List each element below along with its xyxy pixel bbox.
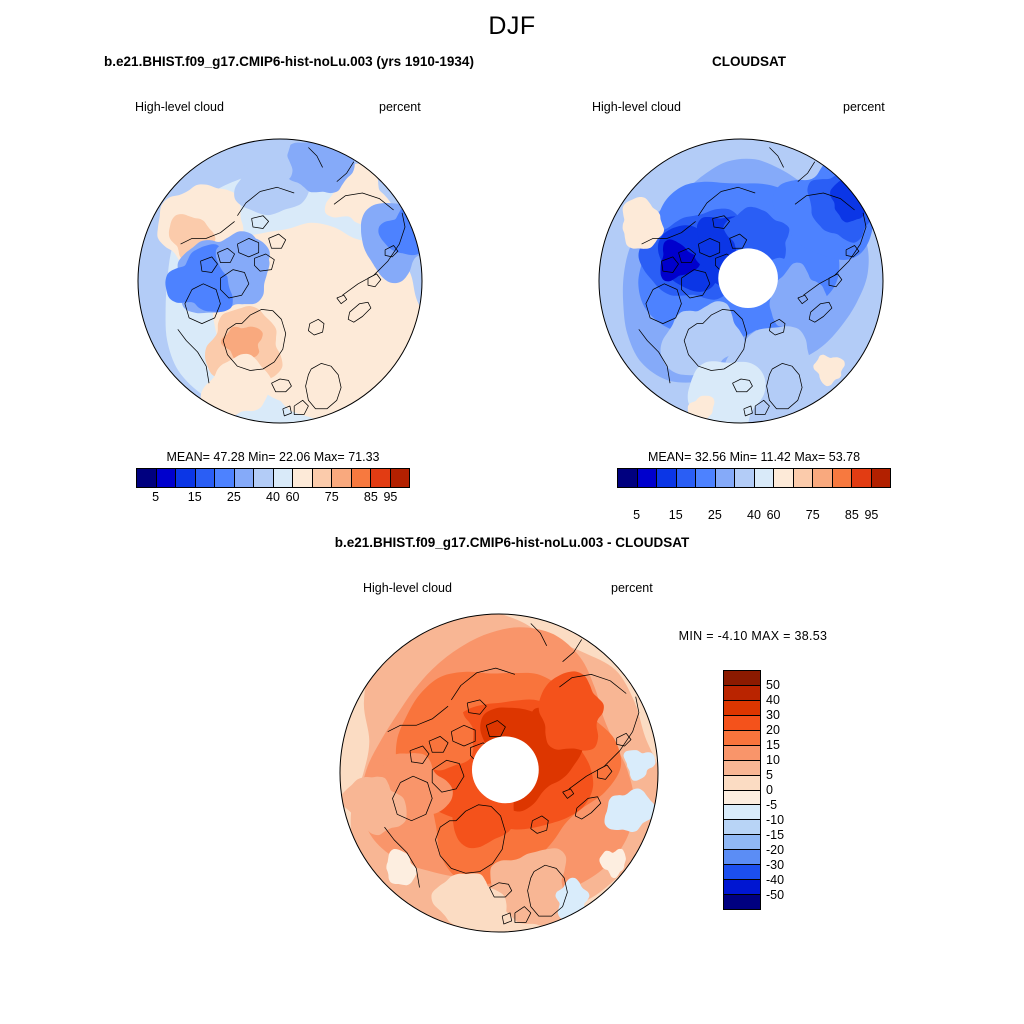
colorbar-tick-label: 60 <box>767 508 781 522</box>
colorbar-segment <box>755 469 775 487</box>
map-obs <box>598 136 884 426</box>
colorbar-tick-label: -30 <box>766 858 784 872</box>
colorbar-tick-label: -50 <box>766 888 784 902</box>
colorbar-tick-label: -5 <box>766 798 777 812</box>
colorbar-segment <box>696 469 716 487</box>
colorbar-tick-label: 75 <box>325 490 339 504</box>
colorbar-segment <box>293 469 313 487</box>
diff-units-label: percent <box>611 581 731 595</box>
colorbar-tick-label: 95 <box>864 508 878 522</box>
colorbar-tick-label: -20 <box>766 843 784 857</box>
colorbar-segment <box>332 469 352 487</box>
colorbar-tick-label: 50 <box>766 678 780 692</box>
panel-title-model: b.e21.BHIST.f09_g17.CMIP6-hist-noLu.003 … <box>0 54 578 69</box>
colorbar-difference[interactable] <box>723 670 761 910</box>
colorbar-tick-label: 30 <box>766 708 780 722</box>
model-units-label: percent <box>379 100 499 114</box>
colorbar-segment <box>352 469 372 487</box>
colorbar-tick-label: 25 <box>227 490 241 504</box>
panel-title-difference: b.e21.BHIST.f09_g17.CMIP6-hist-noLu.003 … <box>0 535 1024 550</box>
colorbar-tick-label: 0 <box>766 783 773 797</box>
colorbar-segment <box>724 865 760 880</box>
colorbar-segment <box>724 835 760 850</box>
colorbar-segment <box>724 850 760 865</box>
obs-units-label: percent <box>843 100 963 114</box>
colorbar-segment <box>254 469 274 487</box>
colorbar-model-ticks: 515254060758595 <box>136 488 410 506</box>
colorbar-tick-label: 95 <box>383 490 397 504</box>
colorbar-obs-ticks: 515254060758595 <box>617 506 891 524</box>
colorbar-segment <box>313 469 333 487</box>
colorbar-segment <box>794 469 814 487</box>
colorbar-segment <box>391 469 410 487</box>
colorbar-segment <box>852 469 872 487</box>
colorbar-segment <box>724 895 760 909</box>
colorbar-segment <box>716 469 736 487</box>
colorbar-tick-label: 15 <box>188 490 202 504</box>
diff-variable-label: High-level cloud <box>363 581 563 595</box>
colorbar-segment <box>833 469 853 487</box>
colorbar-segment <box>724 731 760 746</box>
colorbar-segment <box>618 469 638 487</box>
colorbar-segment <box>235 469 255 487</box>
colorbar-tick-label: 85 <box>364 490 378 504</box>
colorbar-segment <box>735 469 755 487</box>
colorbar-segment <box>677 469 697 487</box>
colorbar-segment <box>724 746 760 761</box>
diff-stats-text: MIN = -4.10 MAX = 38.53 <box>648 629 858 643</box>
colorbar-tick-label: 40 <box>747 508 761 522</box>
colorbar-tick-label: 5 <box>766 768 773 782</box>
colorbar-tick-label: 25 <box>708 508 722 522</box>
colorbar-tick-label: 60 <box>286 490 300 504</box>
panel-title-obs: CLOUDSAT <box>578 54 920 69</box>
colorbar-model[interactable] <box>136 468 410 488</box>
colorbar-tick-label: 5 <box>152 490 159 504</box>
colorbar-segment <box>774 469 794 487</box>
colorbar-segment <box>196 469 216 487</box>
colorbar-tick-label: 15 <box>766 738 780 752</box>
colorbar-tick-label: 15 <box>669 508 683 522</box>
colorbar-tick-label: -15 <box>766 828 784 842</box>
colorbar-segment <box>724 761 760 776</box>
colorbar-tick-label: 10 <box>766 753 780 767</box>
colorbar-segment <box>813 469 833 487</box>
colorbar-segment <box>215 469 235 487</box>
model-stats-text: MEAN= 47.28 Min= 22.06 Max= 71.33 <box>135 450 411 464</box>
colorbar-segment <box>724 776 760 791</box>
colorbar-segment <box>724 701 760 716</box>
colorbar-tick-label: 40 <box>266 490 280 504</box>
colorbar-segment <box>176 469 196 487</box>
colorbar-tick-label: 5 <box>633 508 640 522</box>
colorbar-tick-label: -40 <box>766 873 784 887</box>
colorbar-tick-label: -10 <box>766 813 784 827</box>
colorbar-segment <box>137 469 157 487</box>
colorbar-segment <box>724 671 760 686</box>
colorbar-segment <box>657 469 677 487</box>
colorbar-difference-ticks: 50403020151050-5-10-15-20-30-40-50 <box>766 670 812 910</box>
colorbar-segment <box>724 791 760 806</box>
colorbar-segment <box>724 820 760 835</box>
colorbar-tick-label: 20 <box>766 723 780 737</box>
colorbar-segment <box>872 469 891 487</box>
colorbar-segment <box>724 716 760 731</box>
obs-stats-text: MEAN= 32.56 Min= 11.42 Max= 53.78 <box>616 450 892 464</box>
colorbar-obs[interactable] <box>617 468 891 488</box>
colorbar-segment <box>724 686 760 701</box>
model-variable-label: High-level cloud <box>135 100 335 114</box>
colorbar-segment <box>724 880 760 895</box>
colorbar-segment <box>638 469 658 487</box>
figure-season-title: DJF <box>0 12 1024 41</box>
colorbar-tick-label: 75 <box>806 508 820 522</box>
colorbar-segment <box>157 469 177 487</box>
colorbar-segment <box>724 805 760 820</box>
map-difference <box>334 613 664 933</box>
obs-variable-label: High-level cloud <box>592 100 792 114</box>
colorbar-segment <box>371 469 391 487</box>
colorbar-tick-label: 85 <box>845 508 859 522</box>
colorbar-tick-label: 40 <box>766 693 780 707</box>
map-model <box>137 136 423 426</box>
colorbar-segment <box>274 469 294 487</box>
